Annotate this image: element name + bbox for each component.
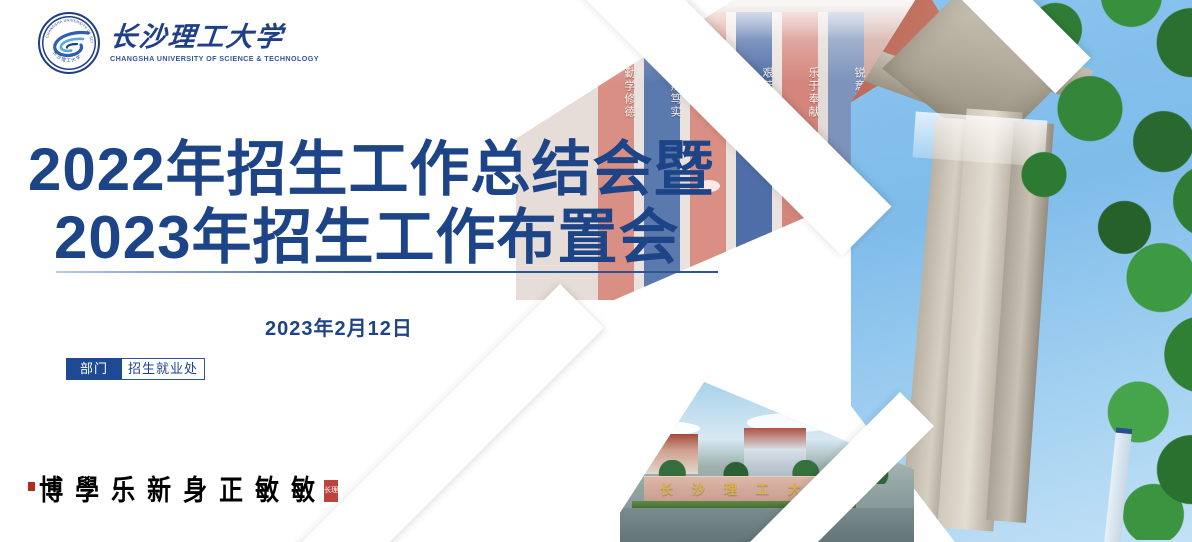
department-badge-label: 部门: [66, 358, 122, 380]
motto-char-5: 身: [183, 477, 208, 505]
university-name-en: CHANGSHA UNIVERSITY OF SCIENCE & TECHNOL…: [110, 54, 319, 63]
motto-char-3: 乐: [111, 477, 136, 505]
svg-text:CHANGSHA UNIVERSITY OF SCIENCE: CHANGSHA UNIVERSITY OF SCIENCE & TECHNOL…: [43, 17, 94, 43]
university-seal-icon: CHANGSHA UNIVERSITY OF SCIENCE & TECHNOL…: [38, 12, 100, 74]
event-title-line-1: 2022年招生工作总结会暨: [28, 136, 728, 204]
university-name-block: 长沙理工大学 CHANGSHA UNIVERSITY OF SCIENCE & …: [110, 23, 328, 62]
motto-char-8: 敏: [291, 477, 316, 505]
svg-text:长沙理工大学: 长沙理工大学: [51, 50, 82, 64]
motto-char-4: 新: [147, 477, 172, 505]
university-motto-seal-script: 博 學 乐 新 身 正 敏 敏 长理: [28, 478, 338, 504]
event-banner: 勤学修德 明辨笃实 脚踏实地 艰苦奋斗 乐于奉献 锐意进取: [0, 0, 1192, 542]
banner-content: CHANGSHA UNIVERSITY OF SCIENCE & TECHNOL…: [0, 0, 760, 542]
university-name-cn: 长沙理工大学: [109, 23, 330, 51]
motto-seal-start-icon: [28, 482, 35, 491]
event-title-line-2: 2023年招生工作布置会: [28, 204, 728, 272]
department-badge-value: 招生就业处: [122, 358, 205, 380]
university-logo-lockup: CHANGSHA UNIVERSITY OF SCIENCE & TECHNOL…: [38, 12, 328, 74]
motto-char-1: 博: [39, 477, 64, 505]
motto-char-2: 學: [75, 477, 100, 505]
department-badge: 部门 招生就业处: [66, 358, 205, 380]
motto-char-6: 正: [219, 477, 244, 505]
meeting-date: 2023年2月12日: [265, 312, 413, 341]
title-divider-rule: [56, 271, 718, 273]
red-seal-stamp-icon: 长理: [324, 480, 338, 502]
event-title: 2022年招生工作总结会暨 2023年招生工作布置会: [28, 136, 728, 273]
motto-characters: 博 學 乐 新 身 正 敏 敏: [38, 477, 317, 505]
motto-char-7: 敏: [255, 477, 280, 505]
